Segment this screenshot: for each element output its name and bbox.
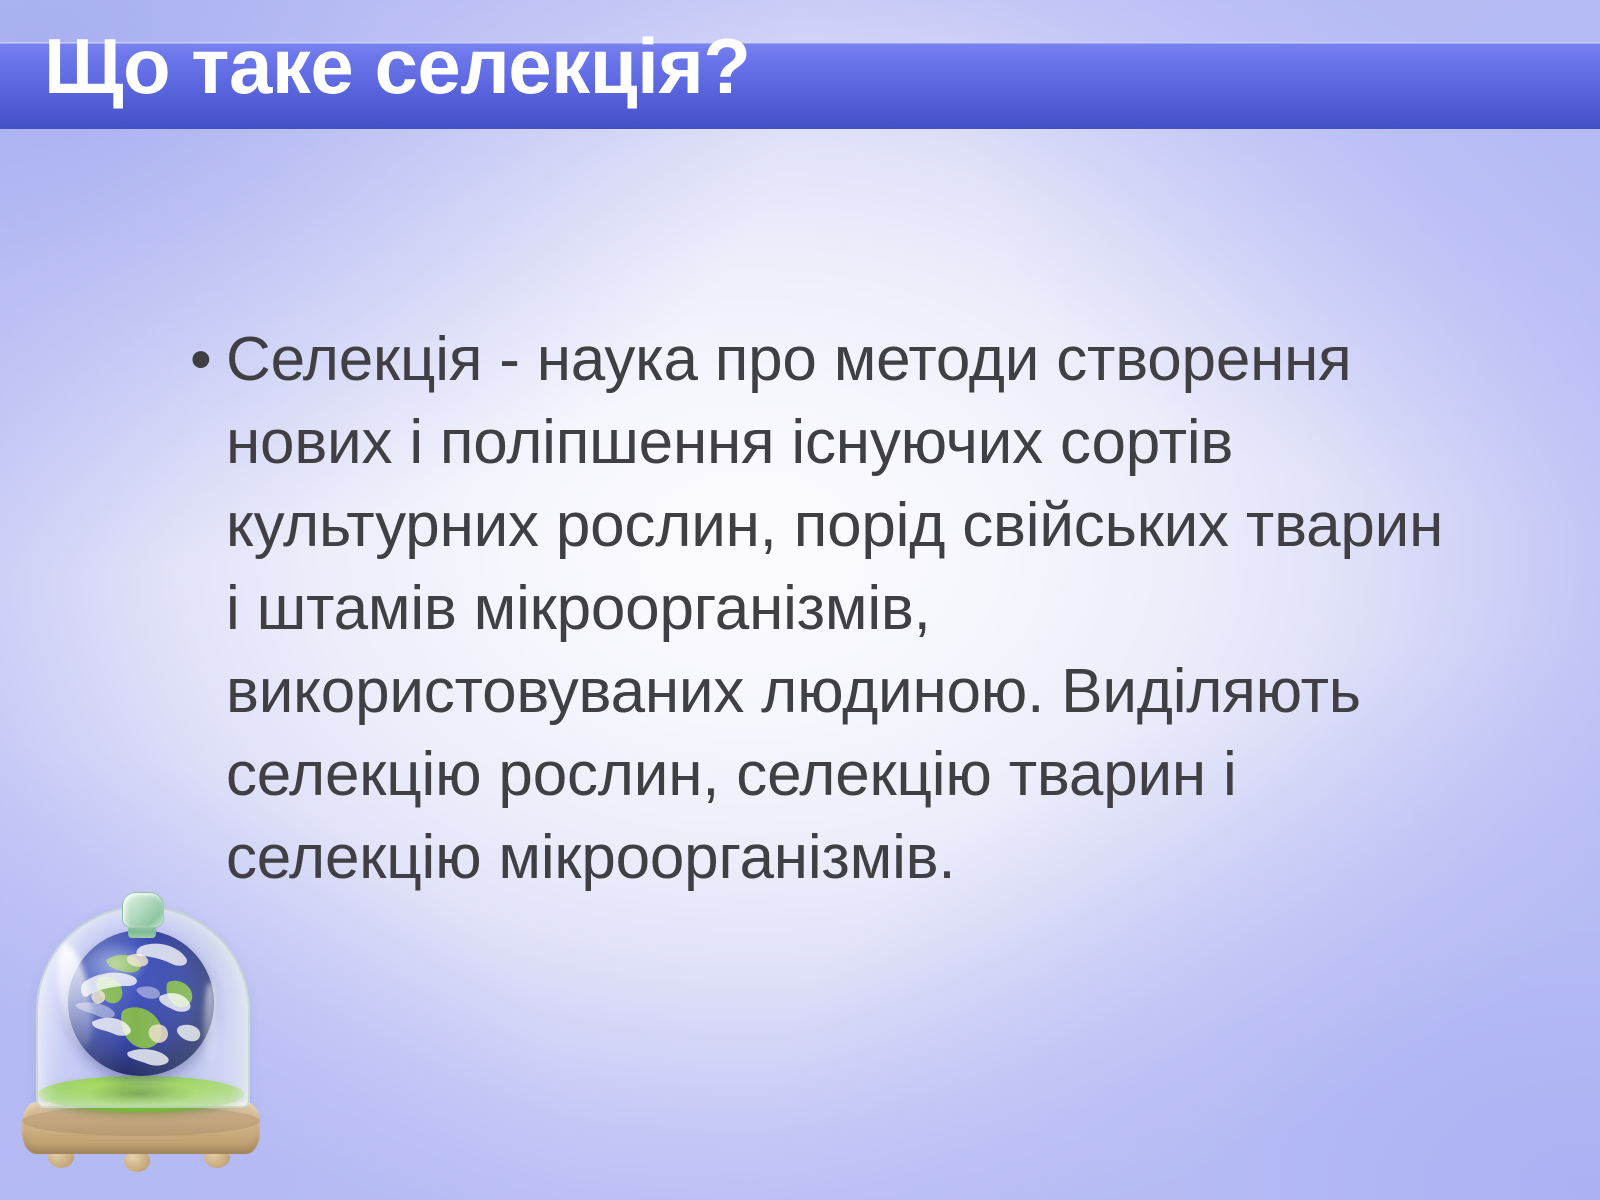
bullet-text: Селекція - наука про методи створення но… — [226, 318, 1448, 899]
glass-highlight-right — [204, 982, 217, 1068]
earth-globe-under-glass-dome-image — [16, 880, 266, 1180]
slide-content: • Селекція - наука про методи створення … — [178, 318, 1448, 899]
bullet-marker-icon: • — [178, 318, 226, 401]
list-item: • Селекція - наука про методи створення … — [178, 318, 1448, 899]
dome-knob — [122, 892, 164, 928]
page-title: Що таке селекція? — [44, 27, 1544, 105]
presentation-slide: Що таке селекція? • Селекція - наука про… — [0, 0, 1600, 1200]
